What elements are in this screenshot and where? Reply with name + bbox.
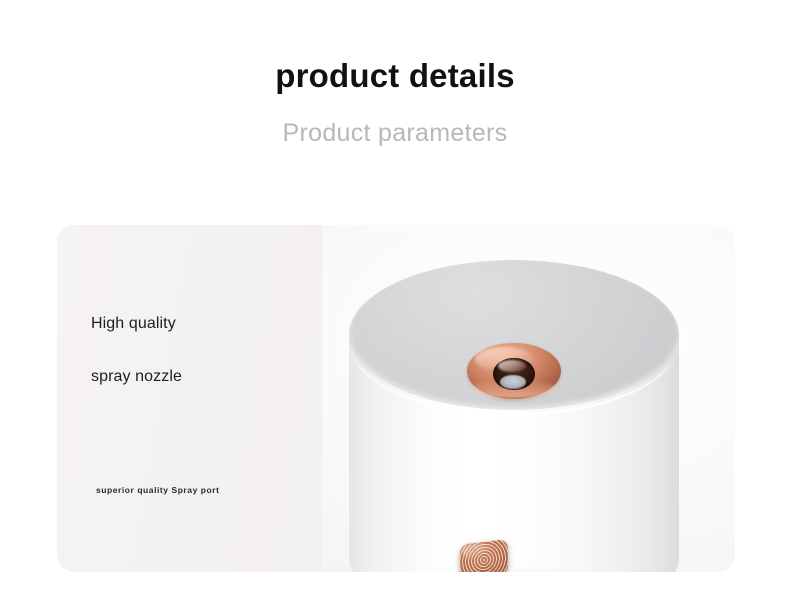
nozzle-inner-aperture <box>500 375 526 388</box>
power-button <box>460 539 508 572</box>
feature-text-panel: High quality spray nozzle superior quali… <box>57 225 322 572</box>
feature-headline-line-1: High quality <box>91 315 176 333</box>
power-button-face <box>460 539 508 572</box>
page-subtitle: Product parameters <box>0 117 790 149</box>
page-title: product details <box>0 56 790 96</box>
feature-headline-line-2: spray nozzle <box>91 368 182 386</box>
humidifier-product-image <box>339 254 689 572</box>
product-photo-panel <box>322 225 735 572</box>
product-detail-card: High quality spray nozzle superior quali… <box>57 225 735 572</box>
spray-nozzle <box>467 343 561 399</box>
feature-caption: superior quality Spray port <box>96 485 219 495</box>
